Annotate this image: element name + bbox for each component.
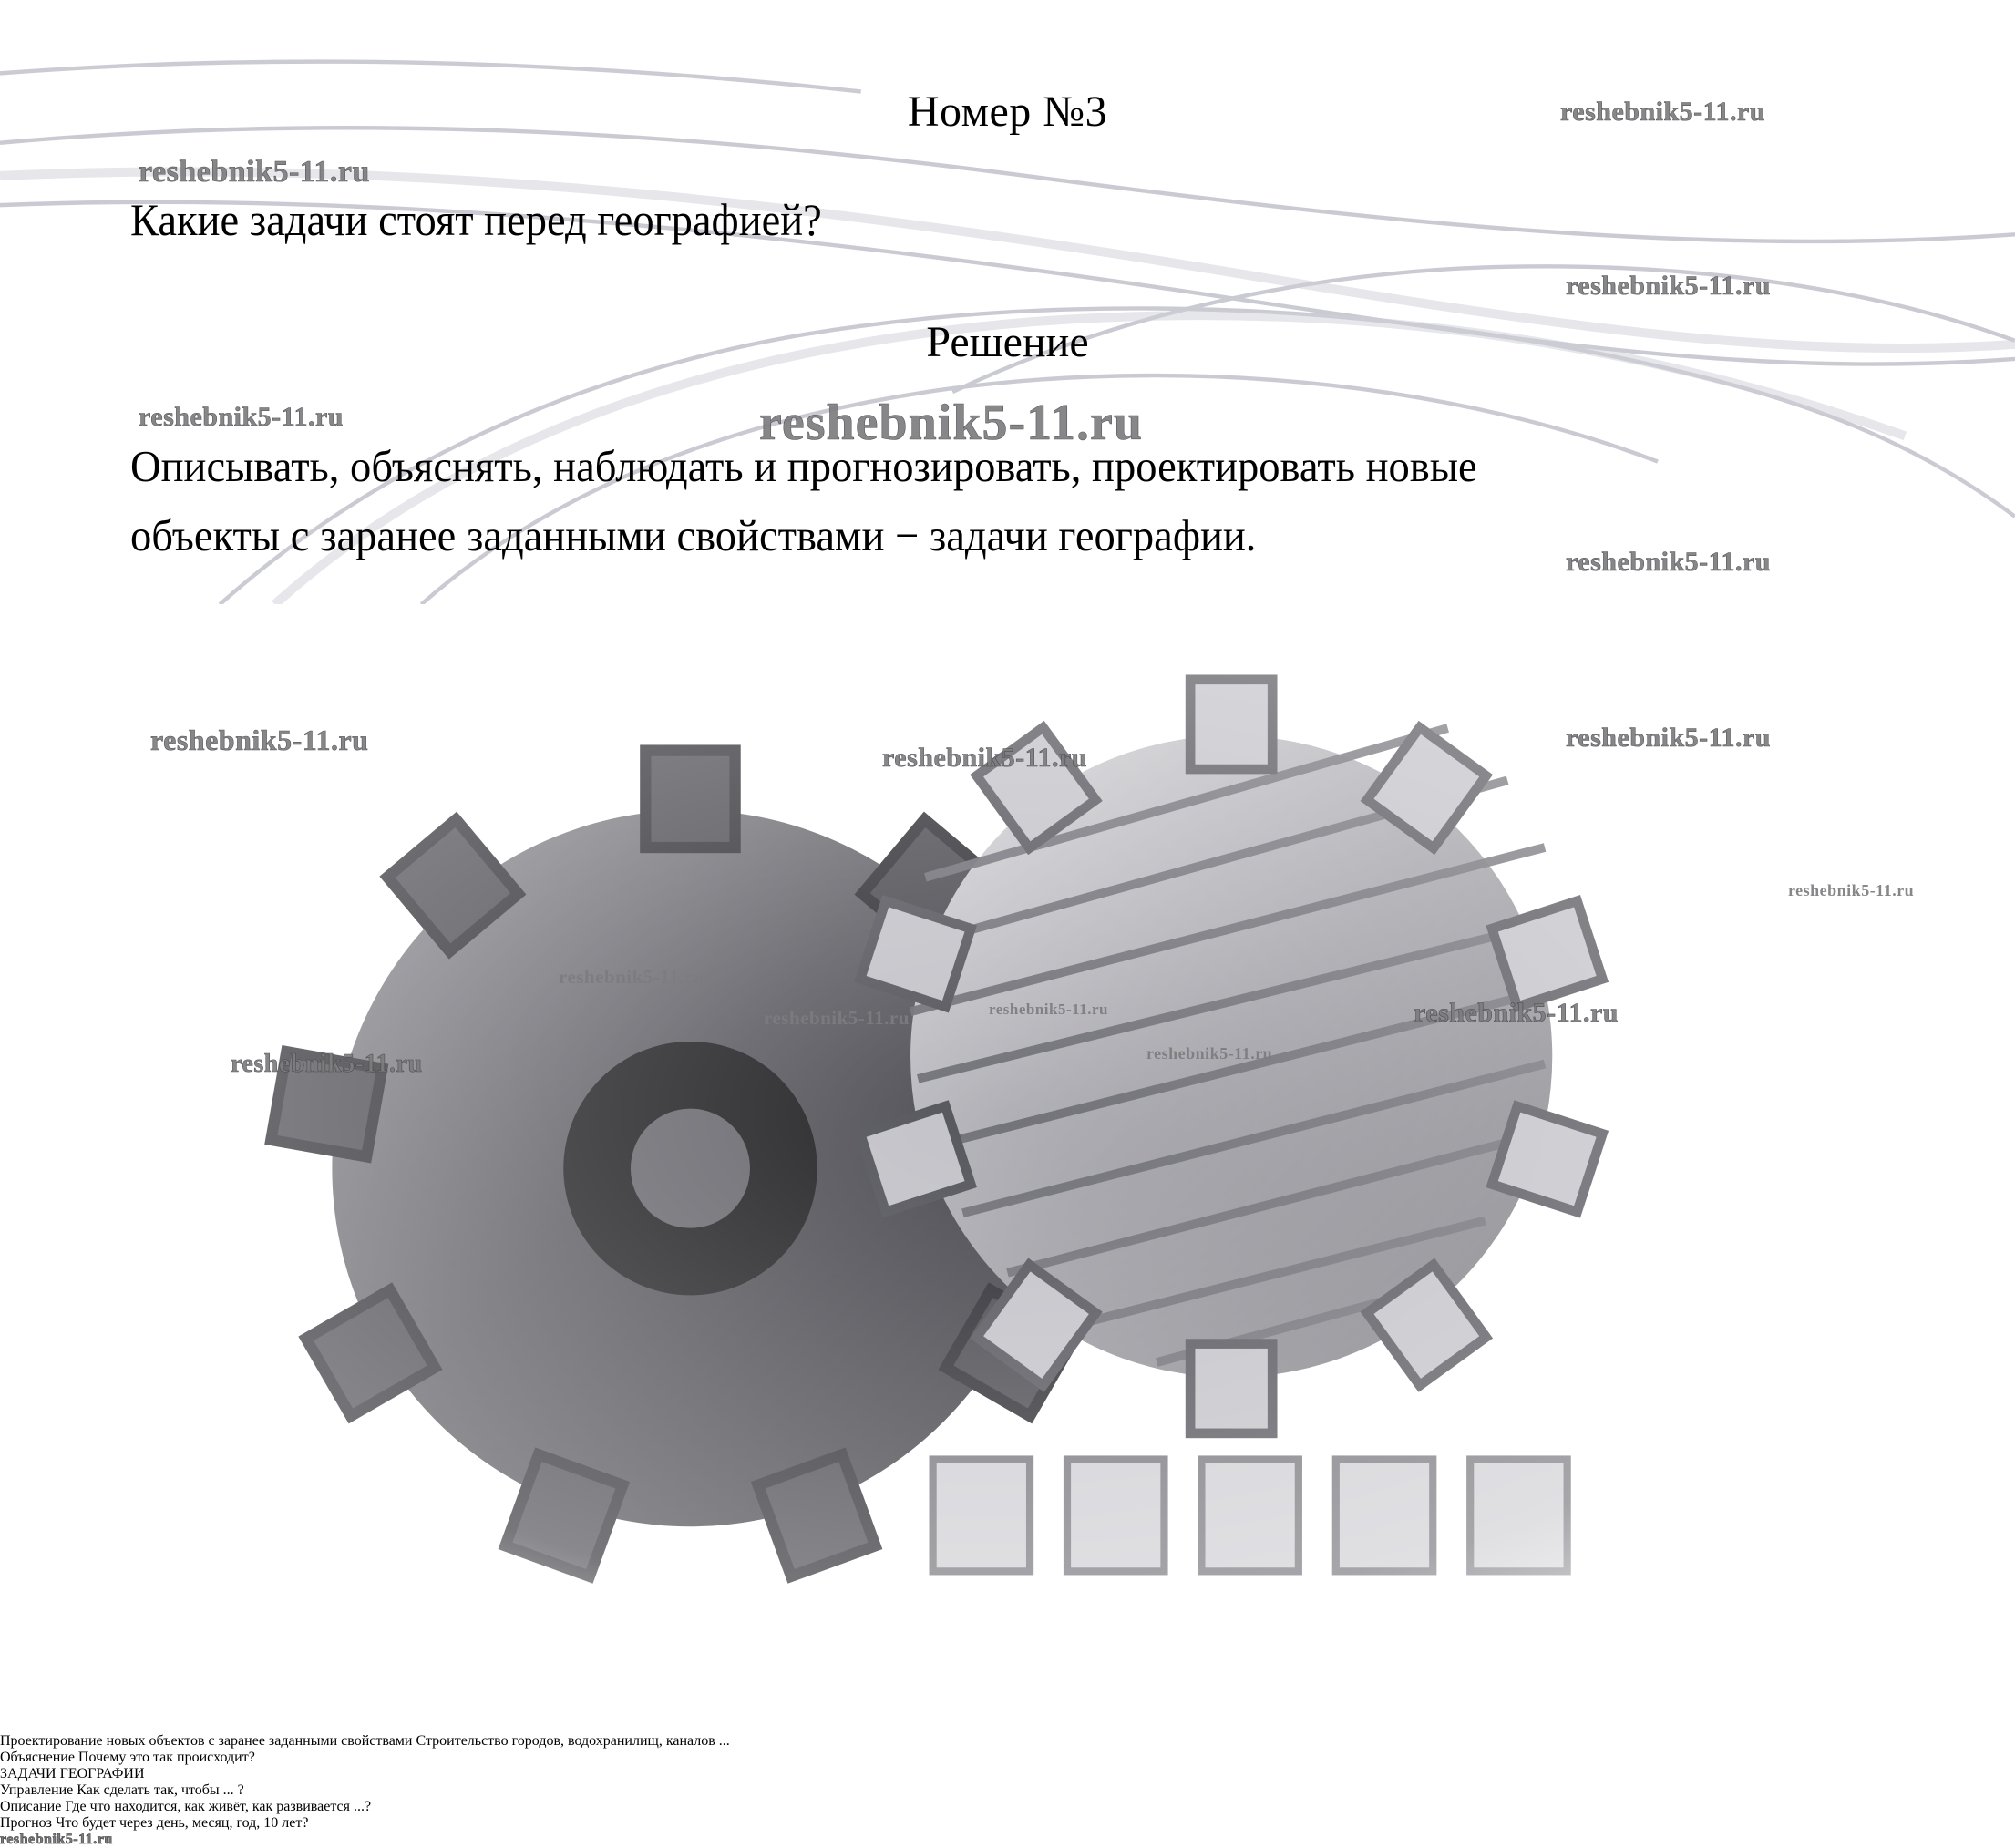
management-sub: Как сделать так, чтобы ... ? <box>77 1782 244 1798</box>
watermark: reshebnik5-11.ru <box>1566 271 1771 302</box>
watermark: reshebnik5-11.ru <box>1566 547 1771 578</box>
watermark: reshebnik5-11.ru <box>0 1832 113 1848</box>
forecast-head: Прогноз <box>0 1815 52 1831</box>
watermark: reshebnik5-11.ru <box>139 402 344 433</box>
watermark: reshebnik5-11.ru <box>1146 1044 1272 1063</box>
watermark: reshebnik5-11.ru <box>759 394 1143 452</box>
diagram-box-management[interactable]: Управление Как сделать так, чтобы ... ? <box>0 1782 2015 1799</box>
watermark: reshebnik5-11.ru <box>139 155 370 190</box>
gear-photo-decoration <box>0 609 2015 1728</box>
design-head-line-2: с заранее заданными свойствами <box>209 1733 413 1749</box>
question-text: Какие задачи стоят перед географией? <box>130 193 822 246</box>
forecast-sub-line-1: Что будет через день, <box>56 1815 189 1831</box>
explanation-head: Объяснение <box>0 1750 75 1765</box>
watermark: reshebnik5-11.ru <box>1414 998 1619 1029</box>
description-sub-line-2: как развивается ...? <box>252 1799 371 1814</box>
diagram-box-forecast[interactable]: Прогноз Что будет через день, месяц, год… <box>0 1815 2015 1832</box>
center-label-text: ЗАДАЧИ ГЕОГРАФИИ <box>0 1766 145 1781</box>
watermark: reshebnik5-11.ru <box>559 966 704 989</box>
diagram-box-design[interactable]: Проектирование новых объектов с заранее … <box>0 1733 2015 1750</box>
solution-heading: Решение <box>0 317 2015 367</box>
watermark: reshebnik5-11.ru <box>1566 723 1771 754</box>
watermark: reshebnik5-11.ru <box>989 1001 1108 1019</box>
diagram-box-explanation[interactable]: Объяснение Почему это так происходит? <box>0 1750 2015 1766</box>
management-head: Управление <box>0 1782 73 1798</box>
design-sub-line-1: Строительство городов, водохранилищ, кан… <box>416 1733 729 1749</box>
diagram-center-label[interactable]: ЗАДАЧИ ГЕОГРАФИИ <box>0 1766 2015 1782</box>
explanation-sub: Почему это так происходит? <box>78 1750 255 1765</box>
watermark: reshebnik5-11.ru <box>1788 881 1914 900</box>
description-sub-line-1: Где что находится, как живёт, <box>65 1799 249 1814</box>
watermark: reshebnik5-11.ru <box>764 1007 910 1030</box>
diagram-box-description[interactable]: Описание Где что находится, как живёт, к… <box>0 1799 2015 1815</box>
description-head: Описание <box>0 1799 61 1814</box>
forecast-sub-line-2: месяц, год, 10 лет? <box>192 1815 309 1831</box>
watermark: reshebnik5-11.ru <box>1560 97 1765 128</box>
watermark: reshebnik5-11.ru <box>231 1050 423 1079</box>
design-head-line-1: Проектирование новых объектов <box>0 1733 205 1749</box>
watermark: reshebnik5-11.ru <box>882 743 1087 774</box>
watermark: reshebnik5-11.ru <box>150 724 368 757</box>
